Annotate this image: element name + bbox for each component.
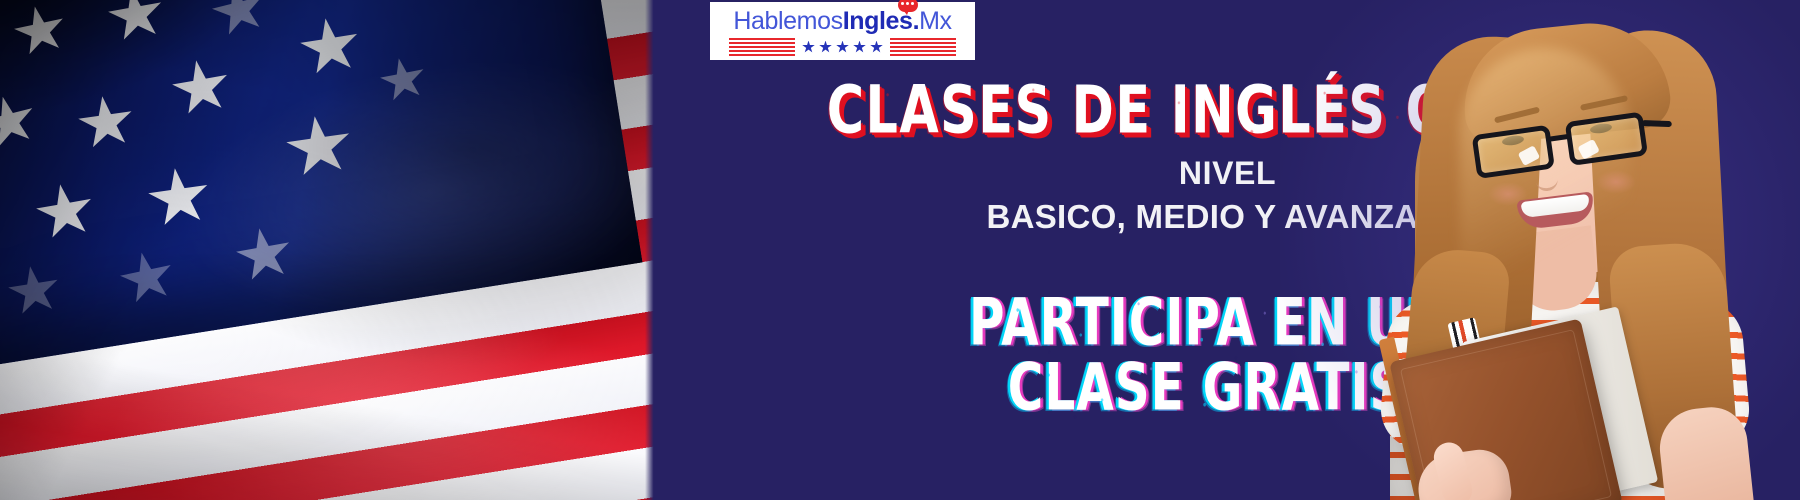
- brand-star-icon: [802, 41, 815, 54]
- brand-stripes-left: [729, 38, 795, 56]
- brand-stars: [802, 41, 883, 54]
- student-photo: [1280, 0, 1800, 500]
- speech-bubble-icon: [898, 0, 918, 12]
- brand-word-mx: Mx: [919, 7, 952, 35]
- us-flag-image: [0, 0, 655, 500]
- brand-flag-rule: [729, 38, 956, 56]
- brand-star-icon: [853, 41, 866, 54]
- brand-word-hablemos: Hablemos: [733, 7, 842, 35]
- speech-bubble-dots: [901, 2, 914, 5]
- lens-left: [1472, 125, 1555, 179]
- brand-star-icon: [819, 41, 832, 54]
- lens-right: [1565, 112, 1648, 166]
- cheek-right: [1596, 170, 1636, 194]
- promo-banner: HablemosIngles.Mx CLASES DE INGLÉS ONLIN…: [0, 0, 1800, 500]
- glasses-temple: [1642, 120, 1672, 127]
- brand-logo[interactable]: HablemosIngles.Mx: [710, 2, 975, 60]
- lens-glint: [1518, 145, 1540, 166]
- lens-glint: [1577, 139, 1599, 160]
- brand-wordmark: HablemosIngles.Mx: [733, 9, 951, 34]
- brand-star-icon: [870, 41, 883, 54]
- brand-star-icon: [836, 41, 849, 54]
- brand-stripes-right: [890, 38, 956, 56]
- flag-right-fade: [645, 0, 655, 500]
- flag-shading: [0, 0, 655, 500]
